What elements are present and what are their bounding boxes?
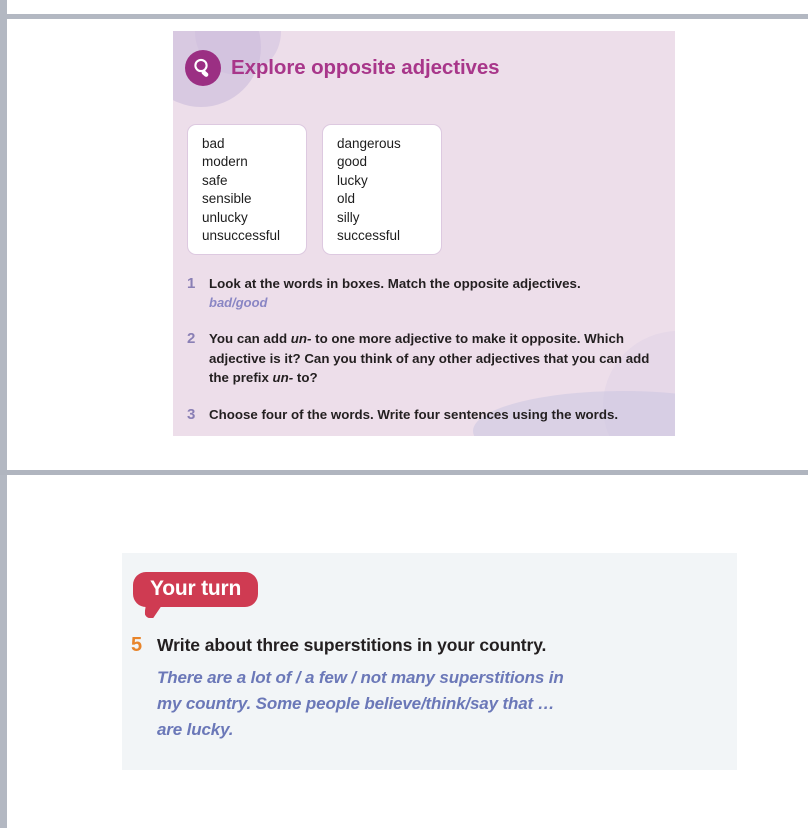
task-number: 2 [187, 329, 209, 348]
speech-bubble-tail-icon [144, 604, 162, 618]
word-item: unlucky [202, 209, 292, 227]
your-turn-panel: Your turn 5 Write about three superstiti… [122, 553, 737, 770]
left-rail-lower [0, 475, 7, 828]
task-text: You can add un- to one more adjective to… [209, 329, 665, 387]
page-title: Explore opposite adjectives [231, 56, 499, 80]
task-example-line: There are a lot of / a few / not many su… [157, 665, 702, 691]
word-item: sensible [202, 190, 292, 208]
explore-adjectives-panel: Explore opposite adjectives bad modern s… [173, 31, 675, 436]
word-item: successful [337, 227, 427, 245]
task-item-1: 1 Look at the words in boxes. Match the … [187, 274, 665, 312]
word-boxes-group: bad modern safe sensible unlucky unsucce… [187, 124, 442, 255]
task-example: There are a lot of / a few / not many su… [157, 665, 702, 743]
task-text-emphasis: un- [291, 331, 312, 346]
task-number: 1 [187, 274, 209, 293]
word-box-left: bad modern safe sensible unlucky unsucce… [187, 124, 307, 255]
magnifier-icon [185, 50, 221, 86]
task-text: Choose four of the words. Write four sen… [209, 405, 665, 424]
task-list: 1 Look at the words in boxes. Match the … [187, 274, 665, 436]
task-example: bad/good [209, 294, 665, 312]
your-turn-label: Your turn [150, 577, 241, 600]
word-item: old [337, 190, 427, 208]
word-item: unsuccessful [202, 227, 292, 245]
task-text-part: You can add [209, 331, 291, 346]
task-body: Look at the words in boxes. Match the op… [209, 274, 665, 312]
task-item-2: 2 You can add un- to one more adjective … [187, 329, 665, 387]
word-item: bad [202, 135, 292, 153]
word-item: safe [202, 172, 292, 190]
task-body: You can add un- to one more adjective to… [209, 329, 665, 387]
section-divider-rule [0, 470, 808, 475]
speech-bubble: Your turn [133, 572, 258, 607]
word-item: good [337, 153, 427, 171]
task-text: Look at the words in boxes. Match the op… [209, 274, 665, 293]
task-text-emphasis: un- [273, 370, 294, 385]
your-turn-task: 5 Write about three superstitions in you… [131, 633, 731, 743]
task-heading: Write about three superstitions in your … [157, 633, 731, 657]
task-example-line: are lucky. [157, 717, 702, 743]
task-number: 3 [187, 405, 209, 424]
word-box-right: dangerous good lucky old silly successfu… [322, 124, 442, 255]
task-body: Write about three superstitions in your … [157, 633, 731, 743]
word-item: modern [202, 153, 292, 171]
top-divider-rule [0, 14, 808, 19]
task-body: Choose four of the words. Write four sen… [209, 405, 665, 424]
word-item: lucky [337, 172, 427, 190]
task-example-line: my country. Some people believe/think/sa… [157, 691, 702, 717]
task-number: 5 [131, 633, 157, 658]
your-turn-badge: Your turn [133, 572, 258, 607]
task-text-part: to? [293, 370, 317, 385]
word-item: silly [337, 209, 427, 227]
task-item-3: 3 Choose four of the words. Write four s… [187, 405, 665, 424]
word-item: dangerous [337, 135, 427, 153]
explore-header: Explore opposite adjectives [185, 50, 499, 86]
